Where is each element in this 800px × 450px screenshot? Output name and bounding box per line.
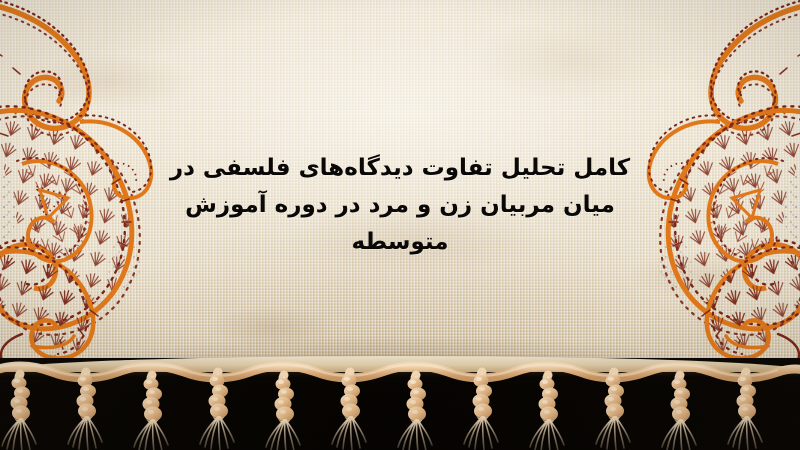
title-line-1: کامل تحلیل تفاوت دیدگاه‌های فلسفی در	[150, 150, 650, 187]
title-card: کامل تحلیل تفاوت دیدگاه‌های فلسفی در میا…	[0, 0, 800, 450]
title-line-2: میان مربیان زن و مرد در دوره آموزش	[150, 187, 650, 224]
title-line-3: متوسطه	[150, 224, 650, 261]
page-title: کامل تحلیل تفاوت دیدگاه‌های فلسفی در میا…	[150, 150, 650, 261]
knotted-tassel-fringe-icon	[0, 358, 800, 450]
